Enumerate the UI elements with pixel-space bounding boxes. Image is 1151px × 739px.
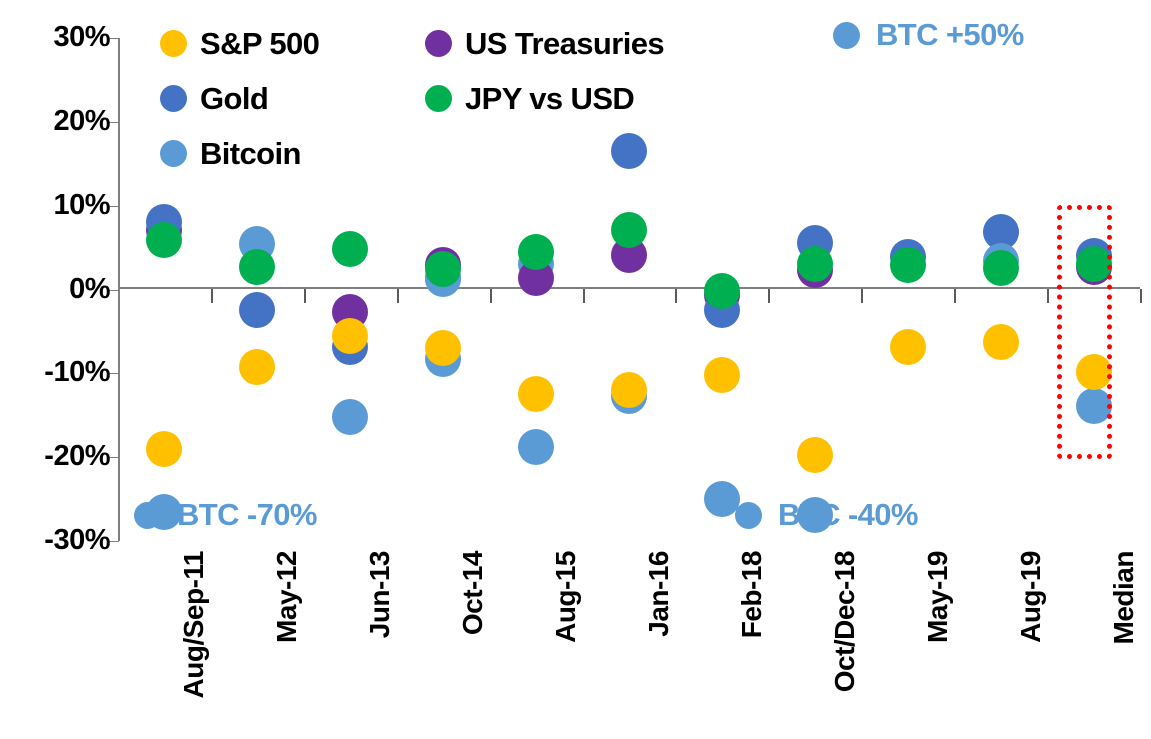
x-axis-tick-label: Oct/Dec-18 — [829, 551, 861, 692]
data-point — [983, 324, 1019, 360]
x-axis-tick-label: Aug-19 — [1015, 551, 1047, 643]
y-axis-tick-label: -10% — [44, 358, 110, 387]
annotation-btc-minus-40: BTC -40% — [735, 497, 918, 533]
legend-swatch-icon — [160, 85, 187, 112]
legend-item[interactable]: JPY vs USD — [425, 71, 664, 126]
y-axis-tick-label: -30% — [44, 526, 110, 555]
x-axis-tick-label: Aug-15 — [550, 551, 582, 643]
annotation-btc-plus-50: BTC +50% — [833, 17, 1024, 53]
data-point — [518, 429, 554, 465]
legend-swatch-icon — [160, 30, 187, 57]
annotation-label: BTC -40% — [778, 497, 918, 533]
x-axis-tick-label: May-12 — [271, 551, 303, 643]
x-axis-tick-label: May-19 — [922, 551, 954, 643]
data-point — [983, 250, 1019, 286]
data-point — [890, 247, 926, 283]
legend-column-left: S&P 500GoldBitcoin — [160, 16, 319, 181]
annotation-label: BTC -70% — [177, 497, 317, 533]
data-point — [704, 357, 740, 393]
legend-column-right: US TreasuriesJPY vs USD — [425, 16, 664, 126]
y-axis-tick-label: 10% — [53, 191, 110, 220]
legend-item[interactable]: Gold — [160, 71, 319, 126]
data-point — [890, 329, 926, 365]
x-axis-tick — [1140, 289, 1142, 303]
legend-item[interactable]: Bitcoin — [160, 126, 319, 181]
data-point — [797, 246, 833, 282]
data-point — [239, 292, 275, 328]
bitcoin-dot-icon — [134, 502, 161, 529]
legend-swatch-icon — [425, 30, 452, 57]
scatter-chart: 30%20%10%0%-10%-20%-30% Aug/Sep-11May-12… — [0, 0, 1151, 739]
legend-item[interactable]: S&P 500 — [160, 16, 319, 71]
legend-swatch-icon — [425, 85, 452, 112]
median-highlight-box — [1057, 205, 1112, 459]
legend-label: JPY vs USD — [465, 81, 634, 117]
data-point — [332, 231, 368, 267]
data-point — [518, 376, 554, 412]
x-axis-tick-label: Jun-13 — [364, 551, 396, 638]
data-point — [611, 212, 647, 248]
y-axis-tick-label: -20% — [44, 442, 110, 471]
bitcoin-dot-icon — [735, 502, 762, 529]
y-axis-tick-label: 30% — [53, 23, 110, 52]
legend-item[interactable]: US Treasuries — [425, 16, 664, 71]
x-axis-tick-label: Aug/Sep-11 — [178, 551, 210, 698]
x-axis-tick-label: Jan-16 — [643, 551, 675, 637]
data-point — [518, 234, 554, 270]
legend-label: S&P 500 — [200, 26, 319, 62]
data-point — [611, 133, 647, 169]
x-axis-tick-label: Feb-18 — [736, 551, 768, 638]
annotation-label: BTC +50% — [876, 17, 1024, 53]
y-axis-tick-label: 0% — [69, 275, 110, 304]
legend-label: US Treasuries — [465, 26, 664, 62]
legend-swatch-icon — [160, 140, 187, 167]
legend-label: Gold — [200, 81, 268, 117]
bitcoin-dot-icon — [833, 22, 860, 49]
x-axis-tick-label: Median — [1108, 551, 1140, 644]
data-point — [239, 349, 275, 385]
legend-label: Bitcoin — [200, 136, 301, 172]
y-axis-tick-label: 20% — [53, 107, 110, 136]
data-point — [704, 273, 740, 309]
data-point — [332, 399, 368, 435]
data-point — [239, 249, 275, 285]
data-point — [611, 372, 647, 408]
annotation-btc-minus-70: BTC -70% — [134, 497, 317, 533]
data-point — [146, 222, 182, 258]
data-point — [146, 431, 182, 467]
data-point — [332, 318, 368, 354]
x-axis-tick-label: Oct-14 — [457, 551, 489, 635]
data-point — [797, 437, 833, 473]
